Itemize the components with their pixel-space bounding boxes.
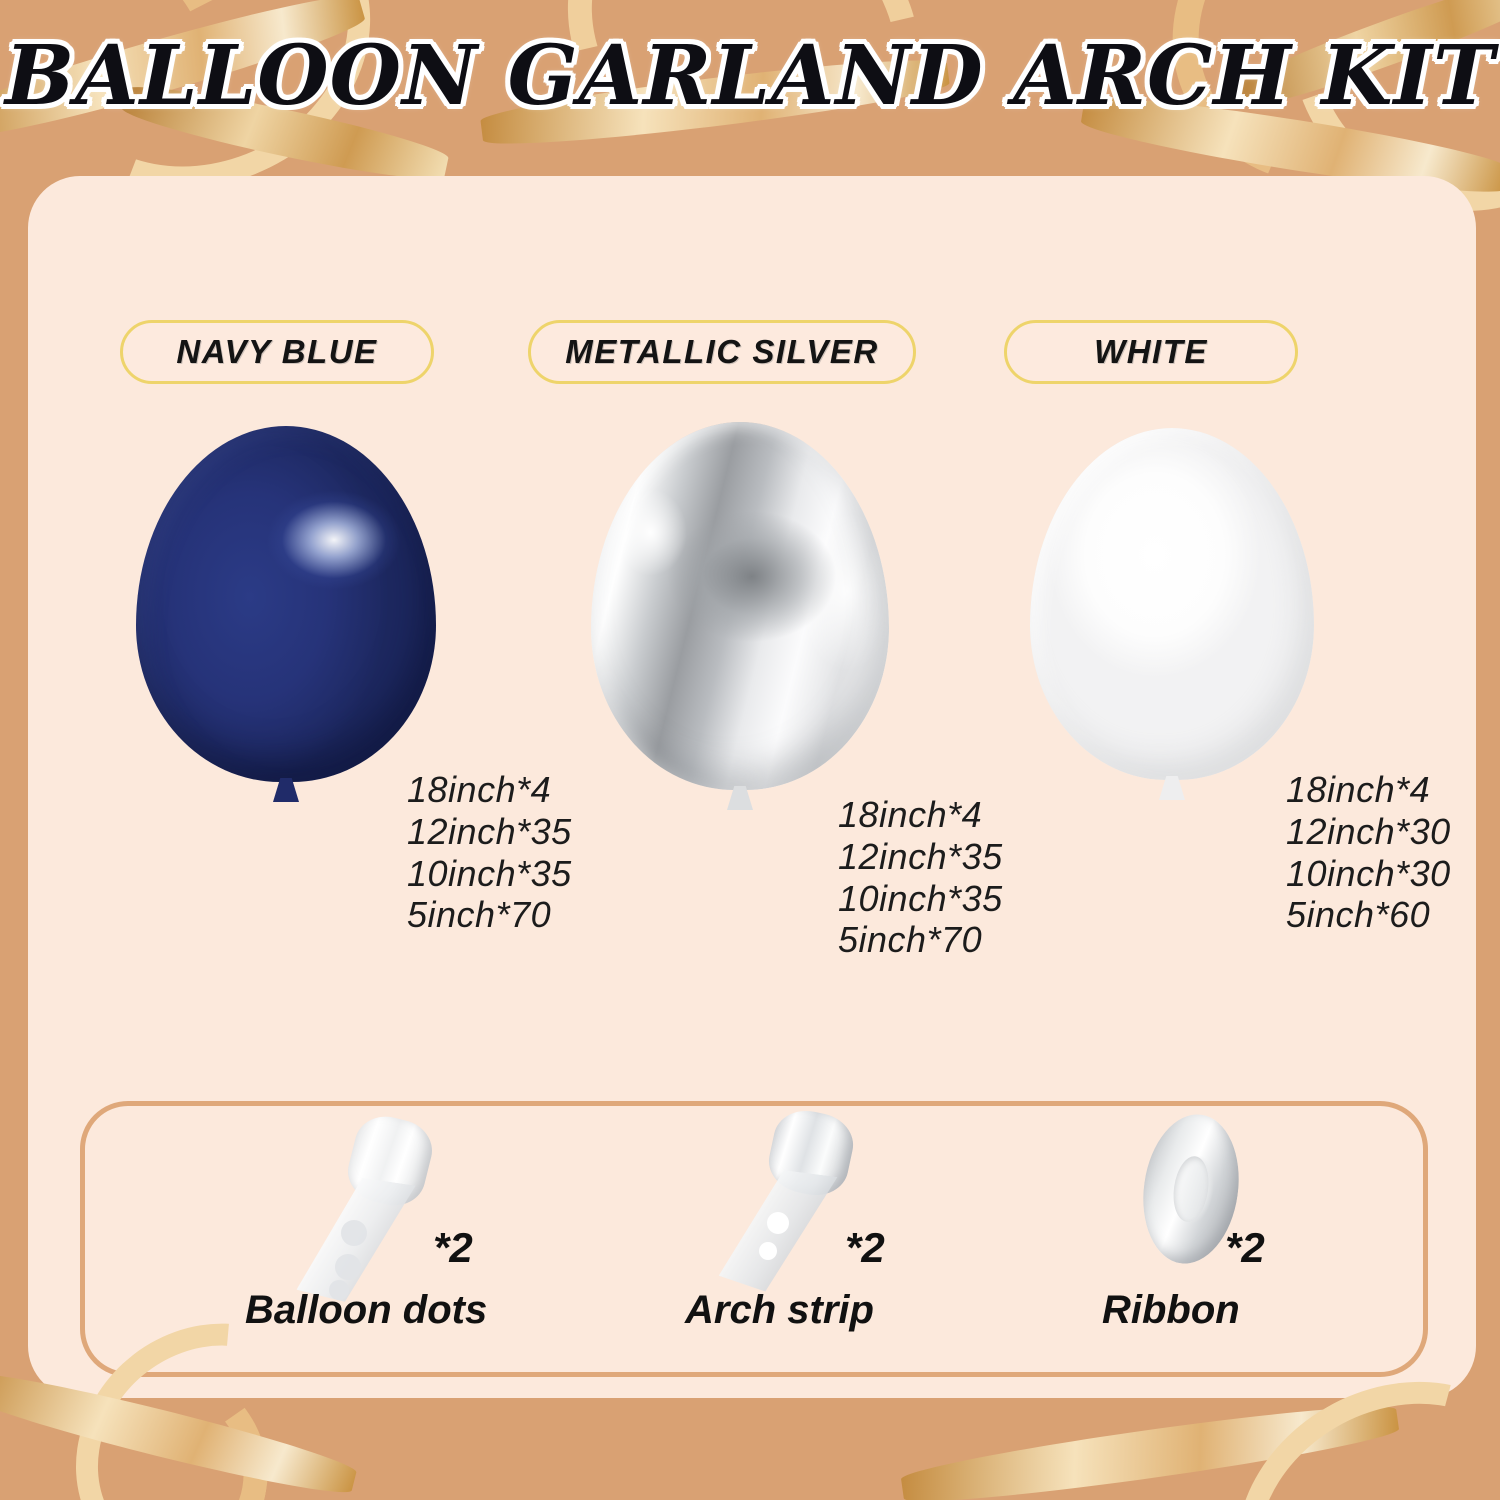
balloon-knot: [273, 778, 299, 802]
size-list-navy-blue: 18inch*4 12inch*35 10inch*35 5inch*70: [407, 769, 572, 936]
accessory-quantity: *2: [433, 1224, 473, 1272]
accessory-quantity: *2: [845, 1224, 885, 1272]
accessory-balloon-dots: *2 Balloon dots: [215, 1106, 615, 1372]
metallic-silver-balloon-icon: [591, 422, 889, 790]
color-label-navy-blue: NAVY BLUE: [120, 320, 434, 384]
main-panel: NAVY BLUE 18inch*4 12inch*35 10inch*35 5…: [28, 176, 1476, 1398]
balloon-color-columns: NAVY BLUE 18inch*4 12inch*35 10inch*35 5…: [28, 176, 1476, 1076]
accessory-ribbon: *2 Ribbon: [1070, 1106, 1400, 1372]
navy-blue-balloon-icon: [136, 426, 436, 782]
accessory-quantity: *2: [1225, 1224, 1265, 1272]
balloon-knot: [727, 786, 753, 810]
size-list-metallic-silver: 18inch*4 12inch*35 10inch*35 5inch*70: [838, 794, 1003, 961]
color-label-white: WHITE: [1004, 320, 1298, 384]
accessory-arch-strip: *2 Arch strip: [645, 1106, 1015, 1372]
product-infographic: BALLOON GARLAND ARCH KIT NAVY BLUE 18inc…: [0, 0, 1500, 1500]
accessory-label: Balloon dots: [245, 1288, 487, 1333]
accessory-label: Ribbon: [1102, 1288, 1240, 1333]
accessory-label: Arch strip: [685, 1288, 874, 1333]
size-list-white: 18inch*4 12inch*30 10inch*30 5inch*60: [1286, 769, 1451, 936]
balloon-knot: [1159, 776, 1185, 800]
accessories-panel: *2 Balloon dots *2 Arch strip: [80, 1101, 1428, 1377]
page-title: BALLOON GARLAND ARCH KIT: [0, 28, 1500, 124]
color-label-metallic-silver: METALLIC SILVER: [528, 320, 916, 384]
white-balloon-icon: [1030, 428, 1314, 780]
ribbon-band-bottom-right: [899, 1395, 1401, 1500]
glue-dots-roll-icon: [315, 1114, 465, 1304]
